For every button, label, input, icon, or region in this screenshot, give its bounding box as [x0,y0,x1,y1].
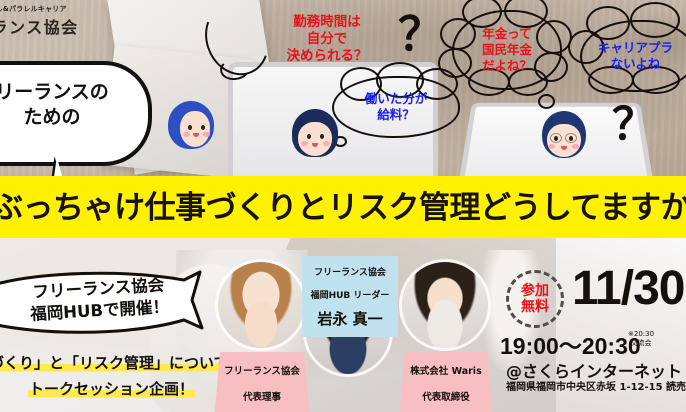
thought-bubble-pay-per-work-text: 働いた分が 給料？ [332,76,460,138]
avatar-eye [569,136,573,141]
thought-bubble-pension-text: 年金って 国民年金 だよね？ [452,10,562,90]
speaker-photo [402,262,488,348]
avatar-glasses-boy-icon [542,111,586,158]
main-bubble-text: リーランスの ための [0,80,150,130]
avatar-cheek [301,141,308,146]
thought-bubble-pension: 年金って 国民年金 だよね？ [452,10,562,90]
event-date: 11/30 [572,264,684,314]
speaker-org: 株式会社 Waris [397,365,495,378]
avatar-cheek [572,144,579,149]
headline-text: ぶっちゃけ仕事づくりとリスク管理どうしてますか？ [0,180,686,236]
speaker-nameplate: フリーランス協会 代表理事 平田 麻莉 [212,352,312,412]
speaker-nameplate: 株式会社 Waris 代表取締役 河 京子 [397,352,495,412]
thought-bubble-career-plan-text: キャリアプラ ないよね [598,20,686,92]
speaker-nameplate: フリーランス協会 福岡HUB リーダー 岩永 真一 [302,256,398,337]
speaker-title: 福岡HUB リーダー [302,291,398,303]
avatar-cheek [323,141,330,146]
avatar-eye [201,125,205,130]
speaker-org: フリーランス協会 [212,365,312,378]
cloud-tail-dot [538,94,555,109]
free-admission-stamp: 参加 無料 [506,270,564,328]
question-mark-icon: ？ [398,0,444,64]
free-admission-text: 参加 無料 [521,283,549,315]
speaker-name: 岩永 真一 [302,314,398,326]
speaker-photo [218,262,304,348]
logo-name: ーランス協会 [0,14,79,38]
avatar-eye [307,134,311,139]
avatar-eye [188,125,192,130]
avatar-cheek [183,132,190,137]
avatar-face [180,111,210,147]
thought-bubble-career-plan: キャリアプラ ないよね [580,20,686,92]
avatar-cheek [203,132,210,137]
event-flyer: ショナル&パラレルキャリア ーランス協会 リーランスの ための 勤務時間は 自分… [0,0,686,412]
avatar-eye [554,136,558,141]
subtitle-line-2: トークセッション企画！ [28,378,195,399]
question-mark-icon: ？ [612,88,656,152]
speaker-title: 代表理事 [212,391,312,404]
avatar-eye [320,134,324,139]
event-address: 福岡県福岡市中央区赤坂 1-12-15 読売 [506,378,686,393]
thought-bubble-pay-per-work: 働いた分が 給料？ [332,76,460,138]
avatar-boy-icon [292,109,338,157]
subtitle-line-1: づくり」と「リスク管理」についての [0,352,245,373]
event-time: 19:00〜20:30 [500,327,641,361]
organization-logo: ショナル&パラレルキャリア ーランス協会 [0,4,79,38]
avatar-cheek [548,144,555,149]
avatar-face [298,122,332,156]
speaker-org: フリーランス協会 [302,268,398,280]
event-time-note: ※20:30 交流会 [628,330,654,348]
logo-tagline: ショナル&パラレルキャリア [0,4,79,14]
avatar-blue-hair-girl-icon [168,101,214,149]
speaker-title: 代表取締役 [397,391,495,404]
